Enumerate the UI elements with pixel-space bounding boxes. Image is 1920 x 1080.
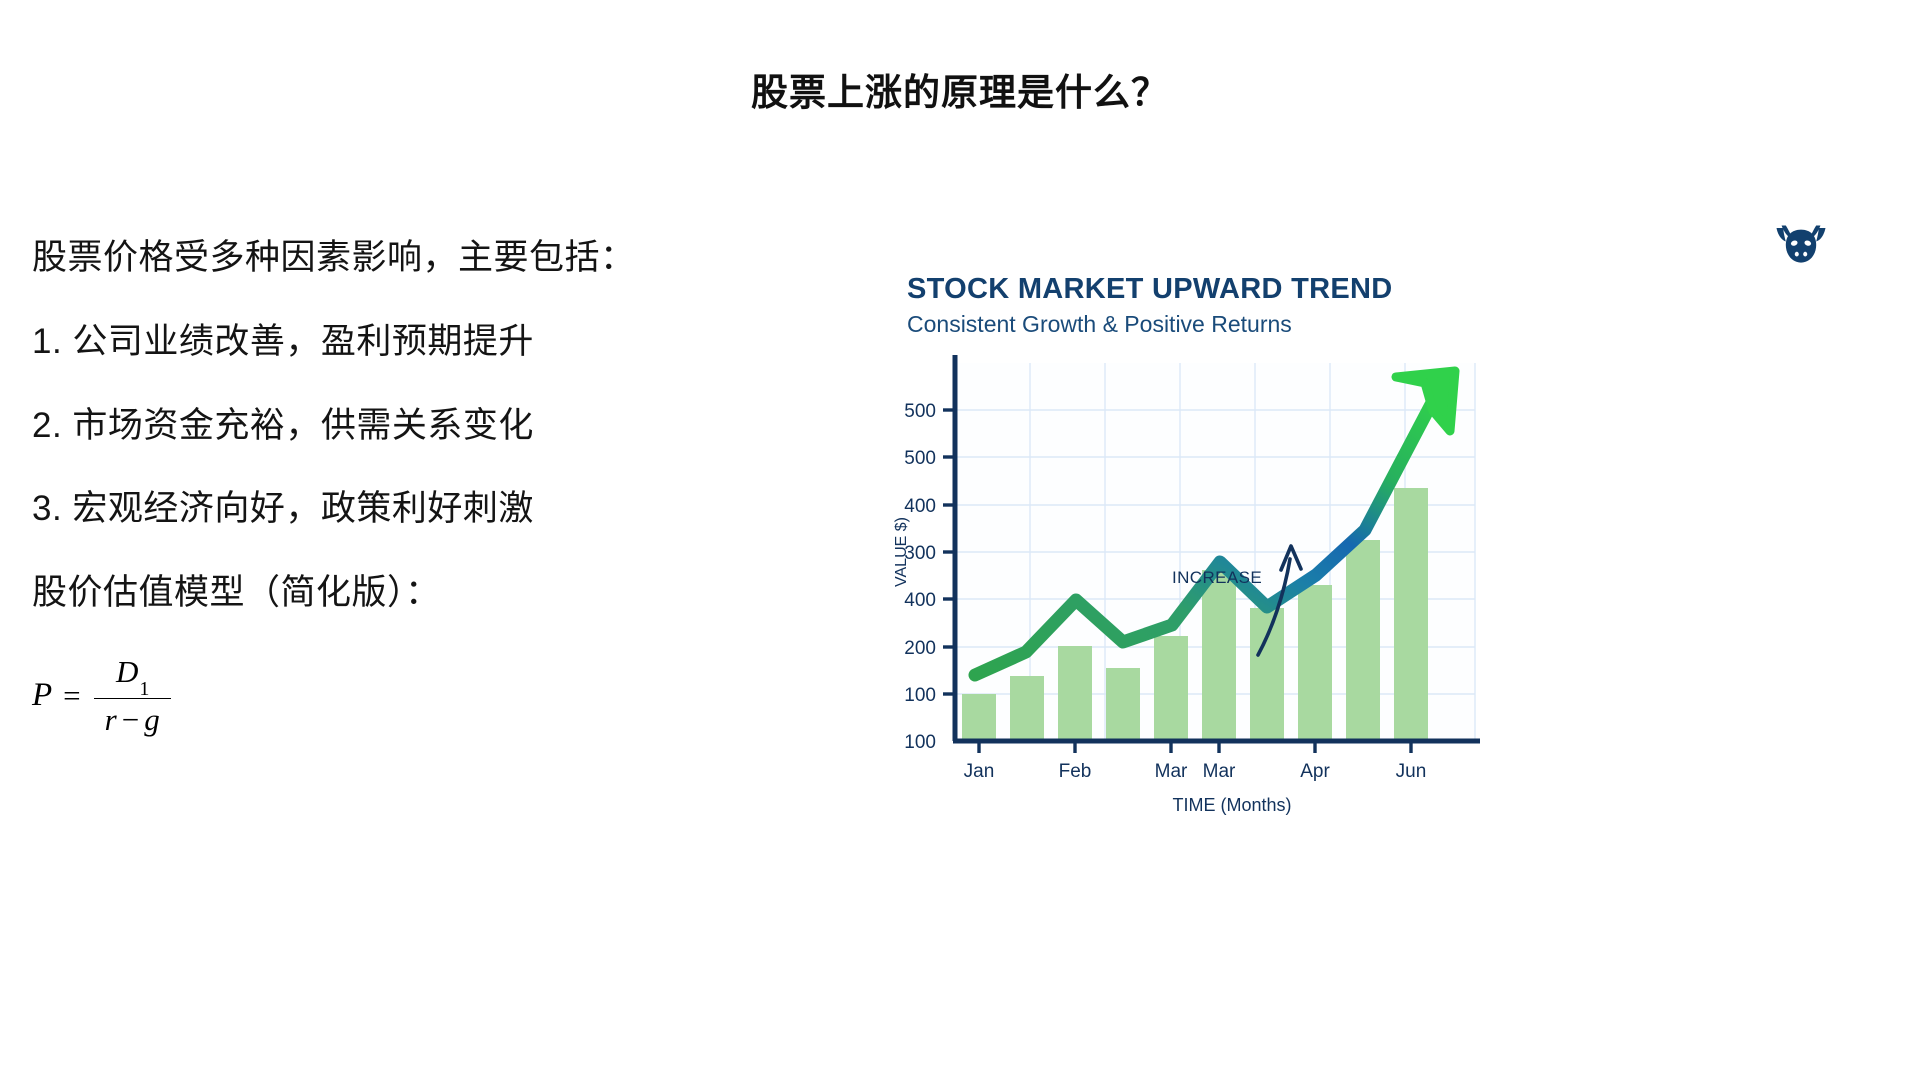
formula-fraction: D1 r−g	[94, 655, 171, 736]
bar-item	[1058, 646, 1092, 741]
y-tick-label: 500	[904, 448, 936, 469]
page-title: 股票上涨的原理是什么？	[0, 62, 1920, 116]
bar-item	[1298, 585, 1332, 741]
valuation-formula: P = D1 r−g	[32, 655, 171, 736]
x-tick-label: Mar	[1203, 761, 1236, 782]
x-tick-label: Feb	[1059, 761, 1092, 782]
x-tick-label: Mar	[1155, 761, 1188, 782]
y-tick-label: 200	[904, 638, 936, 659]
x-axis-title: TIME (Months)	[1172, 795, 1291, 815]
bar-item	[1250, 608, 1284, 741]
bull-head-icon	[1774, 222, 1828, 266]
body-text-column: 股票价格受多种因素影响，主要包括： 1. 公司业绩改善，盈利预期提升 2. 市场…	[32, 240, 892, 659]
formula-numerator-subscript: 1	[139, 678, 149, 700]
y-tick-label: 400	[904, 496, 936, 517]
slide-canvas: 股票上涨的原理是什么？ 股票价格受多种因素影响，主要包括： 1. 公司业绩改善，…	[0, 0, 1920, 1080]
body-line-item-2: 2. 市场资金充裕，供需关系变化	[32, 408, 892, 445]
x-tick-labels: Jan Feb Mar Mar Apr Jun	[964, 761, 1427, 782]
x-tick-label: Apr	[1300, 761, 1330, 782]
x-tick-label: Jun	[1396, 761, 1427, 782]
formula-lhs: P	[32, 677, 52, 714]
body-line-item-3: 3. 宏观经济向好，政策利好刺激	[32, 491, 892, 528]
chart-svg: INCREASE 500 500	[880, 355, 1890, 835]
x-tick-label: Jan	[964, 761, 995, 782]
y-tick-label: 100	[904, 732, 936, 753]
formula-equals: =	[63, 678, 80, 714]
bar-item	[962, 694, 996, 741]
y-tick-label: 500	[904, 401, 936, 422]
formula-numerator: D1	[105, 655, 159, 698]
y-axis-title: VALUE $)	[893, 517, 910, 587]
formula-denominator-operator: −	[122, 702, 139, 737]
bar-item	[1202, 570, 1236, 741]
body-line-intro: 股票价格受多种因素影响，主要包括：	[32, 240, 892, 277]
bar-item	[1394, 488, 1428, 741]
increase-annotation-label: INCREASE	[1172, 568, 1262, 587]
body-line-item-1: 1. 公司业绩改善，盈利预期提升	[32, 324, 892, 361]
bar-item	[1154, 636, 1188, 741]
bar-item	[1010, 676, 1044, 741]
body-line-model-label: 股价估值模型（简化版）：	[32, 575, 892, 612]
bar-item	[1106, 668, 1140, 741]
y-tick-label: 100	[904, 685, 936, 706]
chart-subtitle: Consistent Growth & Positive Returns	[907, 311, 1292, 338]
formula-denominator-right: g	[144, 702, 160, 737]
chart-title: STOCK MARKET UPWARD TREND	[907, 273, 1392, 306]
formula-denominator: r−g	[94, 698, 171, 736]
stock-chart-infographic: STOCK MARKET UPWARD TREND Consistent Gro…	[880, 215, 1890, 865]
chart-plot-area: INCREASE 500 500	[880, 355, 1890, 835]
y-tick-label: 400	[904, 590, 936, 611]
formula-denominator-left: r	[105, 702, 117, 737]
formula-numerator-symbol: D	[116, 654, 138, 689]
bar-item	[1346, 540, 1380, 741]
